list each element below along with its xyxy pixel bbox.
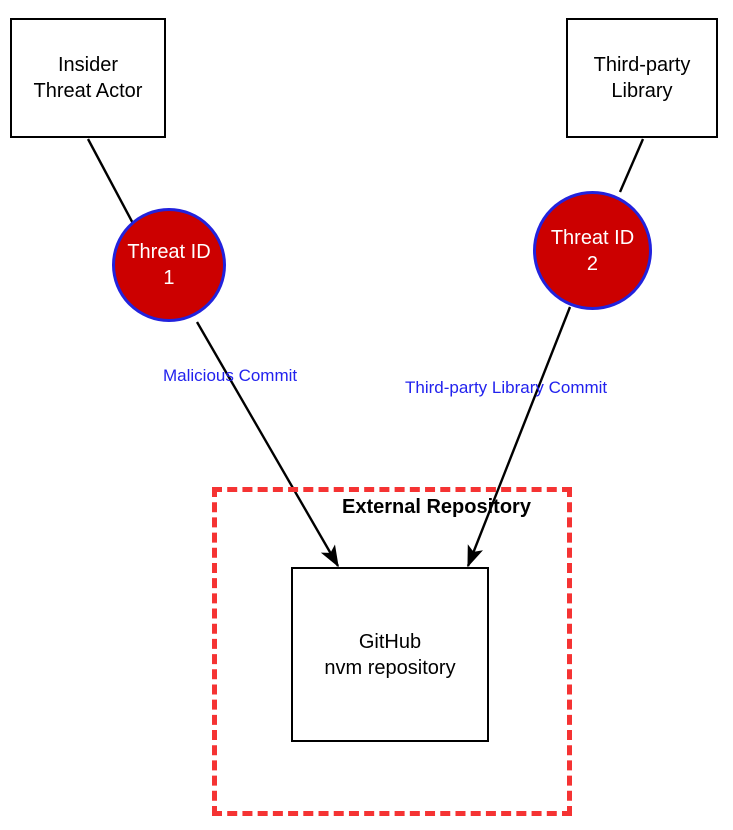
node-insider-threat-actor[interactable]: Insider Threat Actor bbox=[10, 18, 166, 138]
node-label: GitHub nvm repository bbox=[324, 629, 455, 681]
boundary-label-external-repository: External Repository bbox=[342, 496, 531, 519]
edge-label-third-party-library-commit: Third-party Library Commit bbox=[405, 378, 607, 398]
edge-label-malicious-commit: Malicious Commit bbox=[163, 366, 297, 386]
diagram-canvas: Insider Threat Actor Third-party Library… bbox=[0, 0, 733, 830]
node-github-nvm-repository[interactable]: GitHub nvm repository bbox=[291, 567, 489, 742]
node-label: Threat ID 1 bbox=[127, 239, 210, 291]
node-threat-id-1[interactable]: Threat ID 1 bbox=[112, 208, 226, 322]
node-label: Insider Threat Actor bbox=[34, 52, 143, 104]
edge-insider-to-threat1 bbox=[88, 139, 137, 231]
node-third-party-library[interactable]: Third-party Library bbox=[566, 18, 718, 138]
node-threat-id-2[interactable]: Threat ID 2 bbox=[533, 191, 652, 310]
node-label: Third-party Library bbox=[594, 52, 691, 104]
node-label: Threat ID 2 bbox=[551, 225, 634, 277]
edge-library-to-threat2 bbox=[620, 139, 643, 192]
